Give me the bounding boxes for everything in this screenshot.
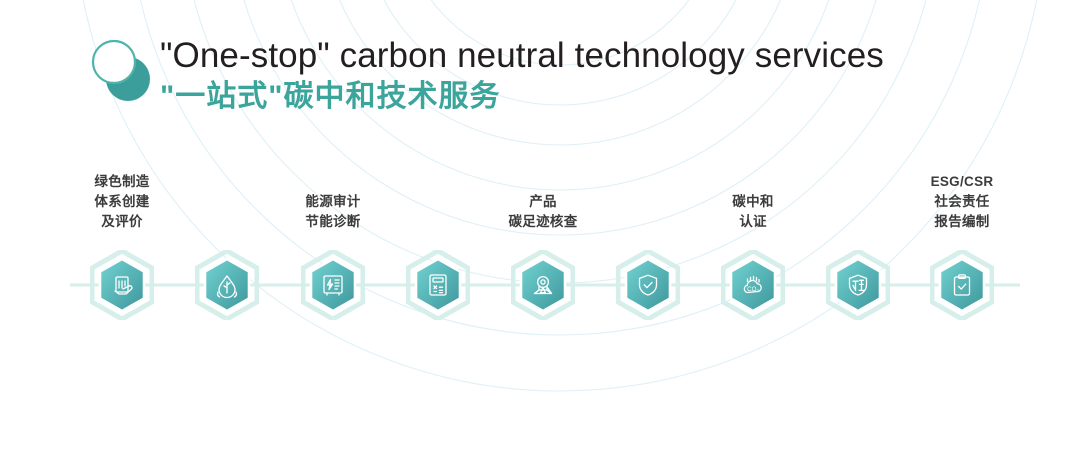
- label-line: 社会责任: [867, 192, 1057, 212]
- hexagon-badge[interactable]: [90, 250, 154, 320]
- hexagon-badge[interactable]: [406, 250, 470, 320]
- timeline-node[interactable]: 能源审计节能诊断: [301, 250, 365, 320]
- timeline-node[interactable]: 碳中和认证: [721, 250, 785, 320]
- timeline-node[interactable]: 零碳工厂评价认证: [826, 250, 890, 320]
- timeline-node-label: ESG/CSR社会责任报告编制: [867, 172, 1057, 232]
- hexagon-badge[interactable]: [195, 250, 259, 320]
- label-line: 碳中和: [658, 192, 848, 212]
- timeline-node-label: 产品碳足迹核查: [448, 192, 638, 232]
- hexagon-badge[interactable]: [301, 250, 365, 320]
- hexagon-badge[interactable]: [616, 250, 680, 320]
- label-line: 报告编制: [867, 212, 1057, 232]
- timeline-node[interactable]: ESG/CSR社会责任报告编制: [930, 250, 994, 320]
- label-line: 碳足迹核查: [448, 212, 638, 232]
- timeline-node[interactable]: 能源管理体系认证: [616, 250, 680, 320]
- hexagon-badge[interactable]: [826, 250, 890, 320]
- label-line: 认证: [658, 212, 848, 232]
- timeline-node[interactable]: 组织温室气体盘查、核算: [406, 250, 470, 320]
- hexagon-badge[interactable]: [930, 250, 994, 320]
- timeline-node[interactable]: 固定资产投资项目节能评估: [195, 250, 259, 320]
- timeline-node-label: 绿色制造体系创建及评价: [27, 172, 217, 232]
- hexagon-badge[interactable]: [511, 250, 575, 320]
- process-timeline: 绿色制造体系创建及评价固定资产投资项目节能评估能源审计节能诊断组织温室气体盘查、…: [0, 0, 1080, 457]
- hexagon-badge[interactable]: [721, 250, 785, 320]
- label-line: 节能诊断: [238, 212, 428, 232]
- label-line: 产品: [448, 192, 638, 212]
- timeline-node[interactable]: 绿色制造体系创建及评价: [90, 250, 154, 320]
- infographic-root: "One-stop" carbon neutral technology ser…: [0, 0, 1080, 457]
- timeline-node[interactable]: 产品碳足迹核查: [511, 250, 575, 320]
- label-line: ESG/CSR: [867, 172, 1057, 192]
- timeline-node-label: 能源审计节能诊断: [238, 192, 428, 232]
- label-line: 及评价: [27, 212, 217, 232]
- label-line: 体系创建: [27, 192, 217, 212]
- label-line: 绿色制造: [27, 172, 217, 192]
- timeline-node-label: 碳中和认证: [658, 192, 848, 232]
- label-line: 能源审计: [238, 192, 428, 212]
